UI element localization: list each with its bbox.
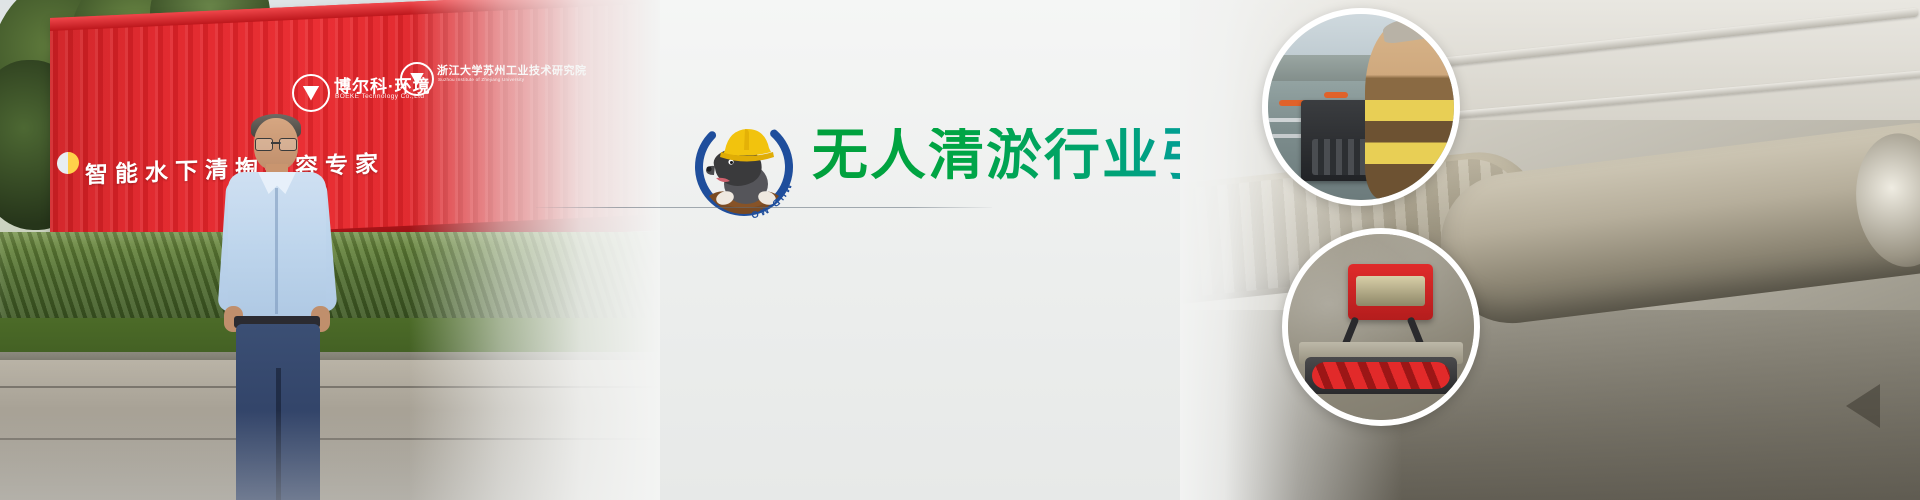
arrow-icon xyxy=(1846,384,1880,428)
circle-photo-dredger xyxy=(1282,228,1480,426)
logo-glyph xyxy=(303,86,320,101)
container-partner-cn: 浙江大学苏州工业技术研究院 xyxy=(437,62,587,78)
hero-banner: 博尔科·环境 BOEKE Technology Co.,Ltd 浙江大学苏州工业… xyxy=(0,0,1920,500)
title-divider xyxy=(536,207,992,208)
operator-person xyxy=(1365,21,1460,200)
container-partner-en: Suzhou Institute of Zhejiang University xyxy=(438,77,524,82)
partner-logo-mark xyxy=(400,62,434,96)
photo-dredging-robot xyxy=(1288,234,1474,420)
robot-chassis xyxy=(1348,264,1434,320)
float-buoy xyxy=(1324,92,1348,98)
auger-head xyxy=(1305,357,1458,394)
trouser-seam xyxy=(276,368,281,500)
eyeglasses-icon xyxy=(255,138,297,149)
shirt-placket xyxy=(275,188,278,314)
company-logo-mark xyxy=(292,74,330,112)
left-photo: 博尔科·环境 BOEKE Technology Co.,Ltd 浙江大学苏州工业… xyxy=(0,0,660,500)
photo-operator-control-console xyxy=(1268,14,1454,200)
circle-photo-operator xyxy=(1262,8,1460,206)
logo-glyph xyxy=(410,73,424,86)
mud-mole-logo: MUD MOLE xyxy=(685,108,803,226)
person-engineer xyxy=(222,118,332,500)
shipping-container xyxy=(50,0,660,258)
